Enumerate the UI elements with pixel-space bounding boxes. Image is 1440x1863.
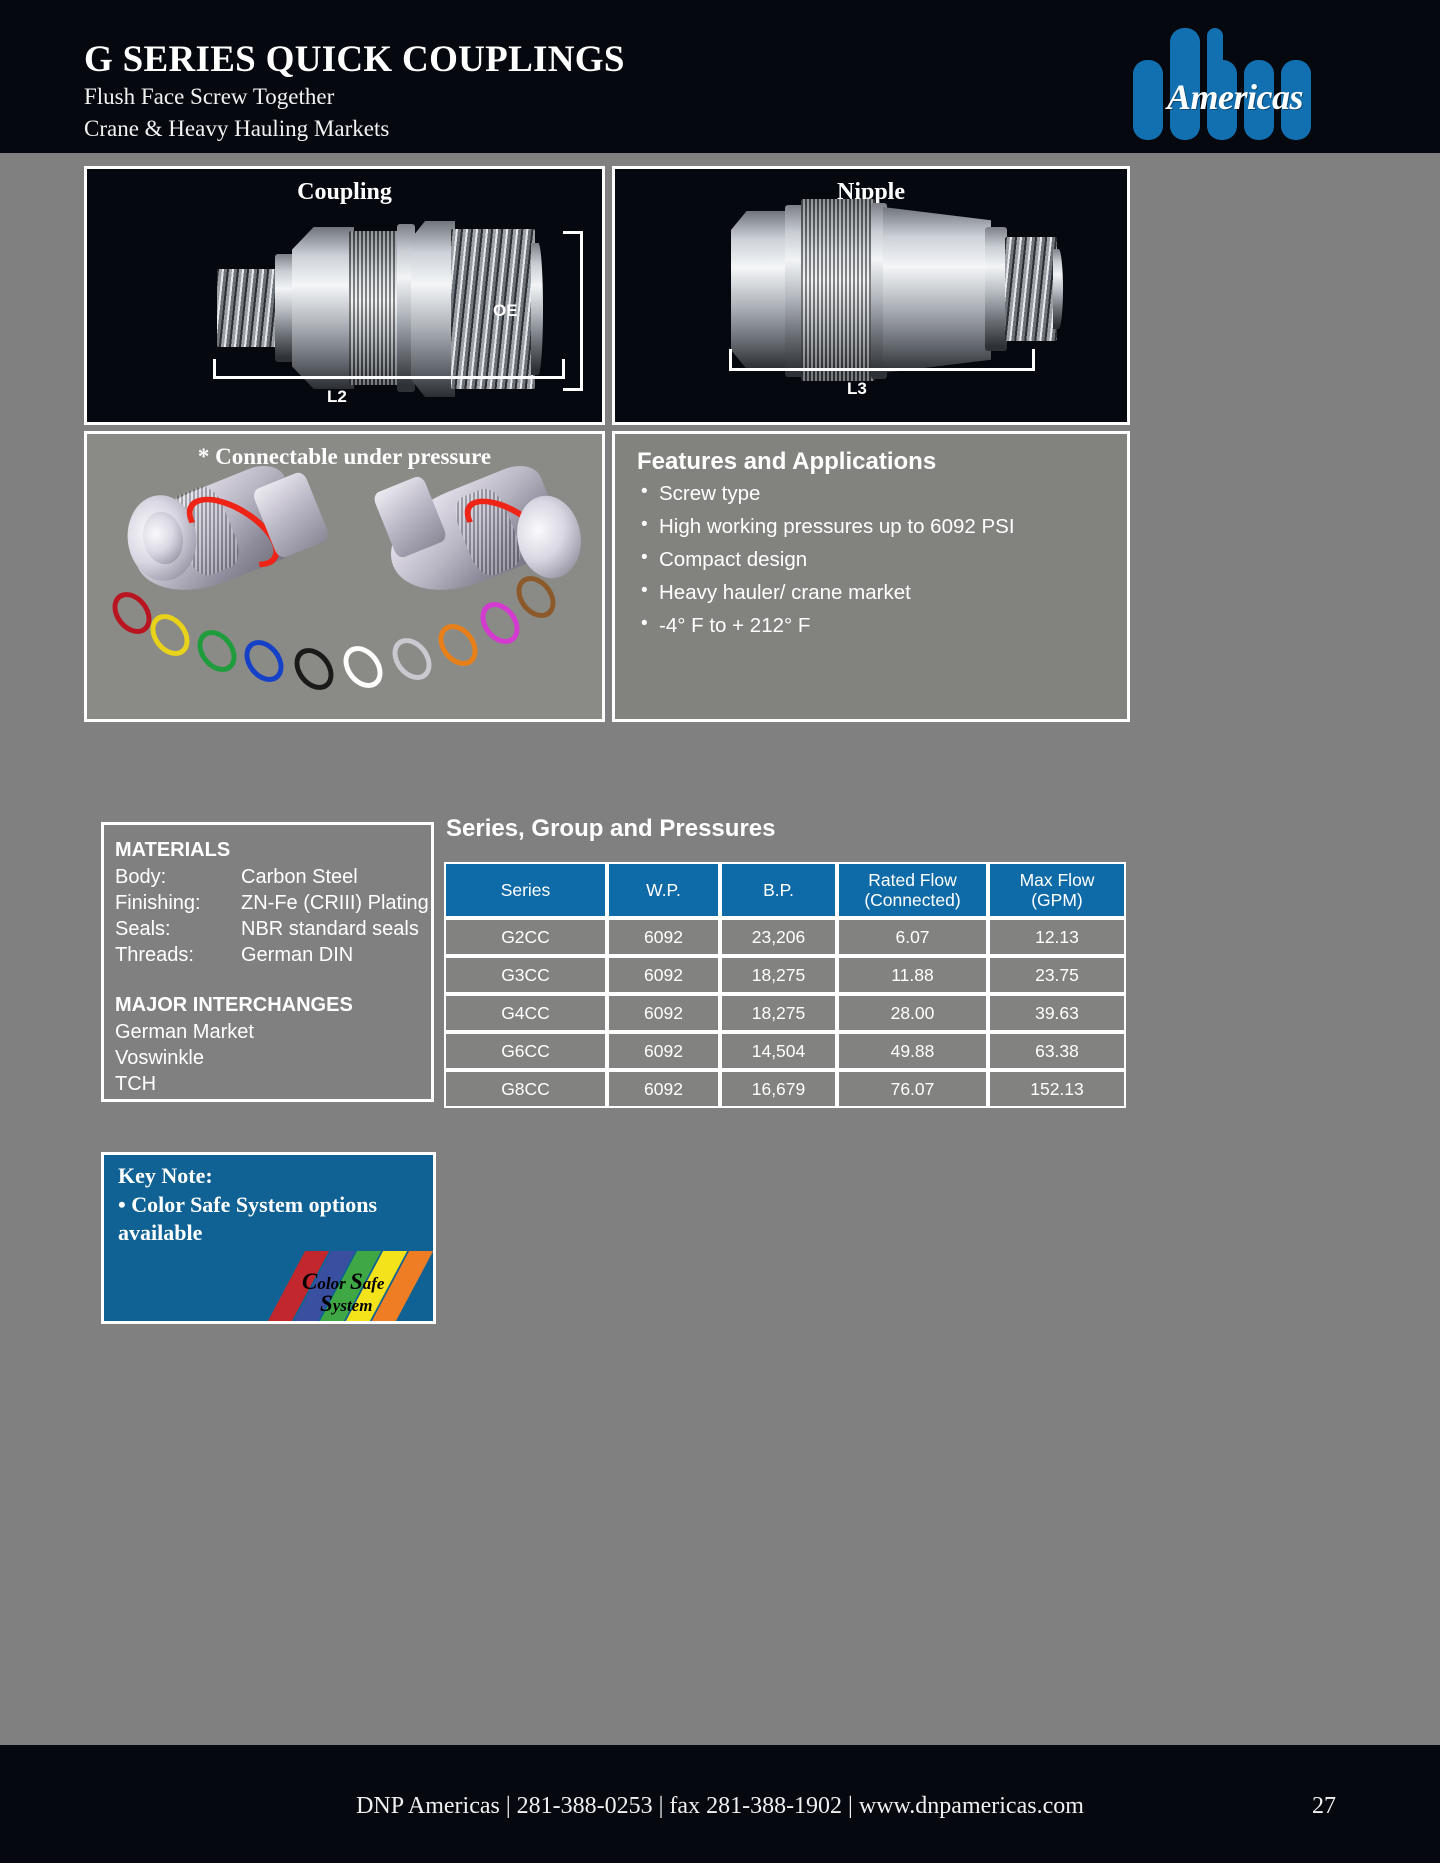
column-header-line: Rated Flow xyxy=(868,870,957,890)
key-note-title: Key Note: xyxy=(118,1163,213,1189)
column-header-series: Series xyxy=(444,862,607,918)
page-title: G SERIES QUICK COUPLINGS xyxy=(84,38,625,81)
cell-max-flow: 12.13 xyxy=(988,918,1126,956)
coupling-image-panel: Coupling OE L2 xyxy=(84,166,605,425)
nipple-image-panel: Nipple L3 xyxy=(612,166,1130,425)
column-header-wp: W.P. xyxy=(607,862,720,918)
cell-max-flow: 152.13 xyxy=(988,1070,1126,1108)
logo-wordmark: Americas xyxy=(1167,76,1303,118)
features-list: Screw type High working pressures up to … xyxy=(641,482,1015,647)
cell-max-flow: 63.38 xyxy=(988,1032,1126,1070)
materials-row: Threads: German DIN xyxy=(115,942,431,968)
feature-item: -4° F to + 212° F xyxy=(641,614,1015,638)
column-header-line: B.P. xyxy=(763,880,794,900)
spec-table-title: Series, Group and Pressures xyxy=(446,815,775,843)
materials-row-value: Carbon Steel xyxy=(241,864,358,890)
spec-table: Series W.P. B.P. Rated Flow (Connected) … xyxy=(444,862,1126,1108)
table-row: G8CC 6092 16,679 76.07 152.13 xyxy=(444,1070,1126,1108)
cell-series: G8CC xyxy=(444,1070,607,1108)
page-subtitle-2: Crane & Heavy Hauling Markets xyxy=(84,116,389,142)
footer-contact-text: DNP Americas | 281-388-0253 | fax 281-38… xyxy=(0,1793,1440,1820)
materials-row-value: ZN-Fe (CRIII) Plating xyxy=(241,890,429,916)
feature-item: High working pressures up to 6092 PSI xyxy=(641,515,1015,539)
column-header-max-flow: Max Flow (GPM) xyxy=(988,862,1126,918)
cell-wp: 6092 xyxy=(607,994,720,1032)
dnp-americas-logo: Americas xyxy=(1133,18,1343,140)
key-note-bullet: • Color Safe System options available xyxy=(118,1191,418,1246)
materials-row: Seals: NBR standard seals xyxy=(115,916,431,942)
cell-wp: 6092 xyxy=(607,918,720,956)
column-header-line: Max Flow xyxy=(1020,870,1095,890)
materials-heading: MATERIALS xyxy=(115,839,431,862)
oe-dimension-label: OE xyxy=(493,301,518,321)
materials-row: Body: Carbon Steel xyxy=(115,864,431,890)
column-header-rated-flow: Rated Flow (Connected) xyxy=(837,862,988,918)
materials-row-key: Body: xyxy=(115,864,241,890)
cell-series: G2CC xyxy=(444,918,607,956)
materials-row-key: Threads: xyxy=(115,942,241,968)
materials-box: MATERIALS Body: Carbon Steel Finishing: … xyxy=(101,822,434,1102)
l3-dimension-label: L3 xyxy=(847,379,867,399)
color-ring-black xyxy=(286,640,341,697)
color-ring-blue xyxy=(236,632,291,689)
feature-item: Screw type xyxy=(641,482,1015,506)
cell-bp: 14,504 xyxy=(720,1032,837,1070)
page-subtitle-1: Flush Face Screw Together xyxy=(84,84,334,110)
materials-row-key: Seals: xyxy=(115,916,241,942)
features-panel: Features and Applications Screw type Hig… xyxy=(612,431,1130,722)
oe-dimension-bracket xyxy=(563,231,583,391)
interchange-item: TCH xyxy=(115,1071,431,1097)
column-header-line: (GPM) xyxy=(1031,890,1083,910)
color-safe-line-2: System xyxy=(320,1291,372,1317)
table-row: G6CC 6092 14,504 49.88 63.38 xyxy=(444,1032,1126,1070)
cell-rated-flow: 28.00 xyxy=(837,994,988,1032)
table-row: G4CC 6092 18,275 28.00 39.63 xyxy=(444,994,1126,1032)
cell-series: G6CC xyxy=(444,1032,607,1070)
cell-wp: 6092 xyxy=(607,956,720,994)
cell-rated-flow: 11.88 xyxy=(837,956,988,994)
color-ring-orange xyxy=(430,616,485,673)
table-row: G3CC 6092 18,275 11.88 23.75 xyxy=(444,956,1126,994)
cell-rated-flow: 76.07 xyxy=(837,1070,988,1108)
materials-row: Finishing: ZN-Fe (CRIII) Plating xyxy=(115,890,431,916)
cs-rest-ystem: ystem xyxy=(333,1296,373,1315)
color-ring-silver xyxy=(384,630,439,687)
cell-rated-flow: 49.88 xyxy=(837,1032,988,1070)
table-row: G2CC 6092 23,206 6.07 12.13 xyxy=(444,918,1126,956)
cell-series: G4CC xyxy=(444,994,607,1032)
cell-rated-flow: 6.07 xyxy=(837,918,988,956)
features-heading: Features and Applications xyxy=(637,448,936,476)
materials-row-key: Finishing: xyxy=(115,890,241,916)
key-note-box: Key Note: • Color Safe System options av… xyxy=(101,1152,436,1324)
spacer xyxy=(115,968,431,994)
color-safe-system-logo: Color Safe System xyxy=(282,1251,432,1323)
interchanges-heading: MAJOR INTERCHANGES xyxy=(115,994,431,1017)
cell-bp: 18,275 xyxy=(720,956,837,994)
column-header-line: W.P. xyxy=(646,880,681,900)
l3-dimension-bracket xyxy=(729,349,1035,371)
cell-wp: 6092 xyxy=(607,1032,720,1070)
column-header-line: (Connected) xyxy=(864,890,960,910)
feature-item: Heavy hauler/ crane market xyxy=(641,581,1015,605)
coupling-panel-title: Coupling xyxy=(87,179,602,206)
interchange-item: German Market xyxy=(115,1019,431,1045)
l2-dimension-label: L2 xyxy=(327,387,347,407)
page-footer: DNP Americas | 281-388-0253 | fax 281-38… xyxy=(0,1745,1440,1863)
column-header-bp: B.P. xyxy=(720,862,837,918)
cs-cap-s2: S xyxy=(320,1291,333,1316)
interchange-item: Voswinkle xyxy=(115,1045,431,1071)
l2-dimension-bracket xyxy=(213,359,565,379)
color-ring-white xyxy=(335,638,390,695)
cell-bp: 23,206 xyxy=(720,918,837,956)
page-number: 27 xyxy=(1312,1793,1336,1820)
cs-cap-c: C xyxy=(302,1269,317,1294)
connectable-under-pressure-panel: * Connectable under pressure xyxy=(84,431,605,722)
materials-row-value: NBR standard seals xyxy=(241,916,419,942)
cell-wp: 6092 xyxy=(607,1070,720,1108)
materials-row-value: German DIN xyxy=(241,942,353,968)
cell-max-flow: 23.75 xyxy=(988,956,1126,994)
cell-series: G3CC xyxy=(444,956,607,994)
cell-bp: 18,275 xyxy=(720,994,837,1032)
table-header-row: Series W.P. B.P. Rated Flow (Connected) … xyxy=(444,862,1126,918)
column-header-line: Series xyxy=(501,880,551,900)
cell-max-flow: 39.63 xyxy=(988,994,1126,1032)
cell-bp: 16,679 xyxy=(720,1070,837,1108)
color-ring-green xyxy=(189,622,244,679)
page-header: G SERIES QUICK COUPLINGS Flush Face Scre… xyxy=(0,0,1440,153)
feature-item: Compact design xyxy=(641,548,1015,572)
